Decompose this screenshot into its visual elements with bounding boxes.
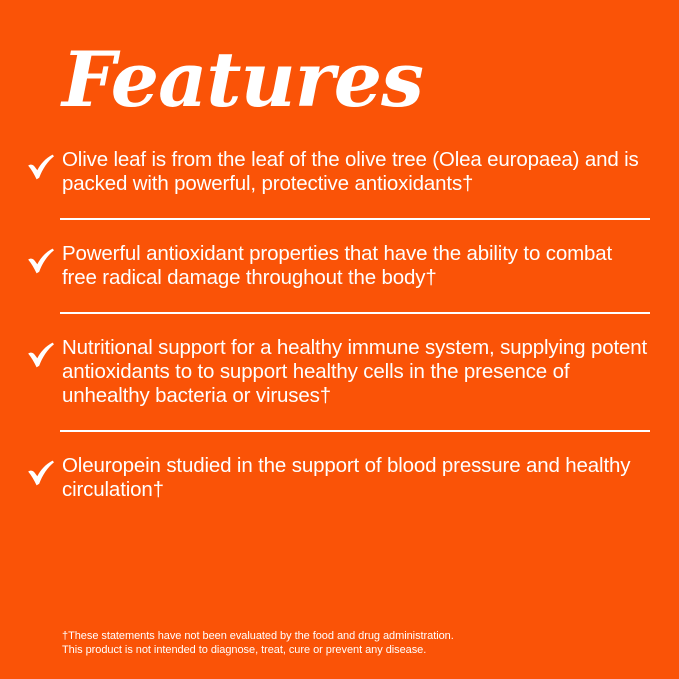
feature-item: Olive leaf is from the leaf of the olive… <box>0 148 679 196</box>
feature-item-text: Oleuropein studied in the support of blo… <box>62 454 650 502</box>
features-list: Olive leaf is from the leaf of the olive… <box>0 148 679 502</box>
footnote-disclaimer: †These statements have not been evaluate… <box>62 630 622 657</box>
footnote-line-1: †These statements have not been evaluate… <box>62 630 622 644</box>
footnote-line-2: This product is not intended to diagnose… <box>62 644 622 658</box>
feature-divider <box>60 312 650 314</box>
feature-divider <box>60 430 650 432</box>
feature-item: Oleuropein studied in the support of blo… <box>0 454 679 502</box>
feature-item-text: Nutritional support for a healthy immune… <box>62 336 650 408</box>
feature-item-text: Olive leaf is from the leaf of the olive… <box>62 148 650 196</box>
checkmark-icon <box>27 154 55 180</box>
checkmark-icon <box>27 342 55 368</box>
feature-card: Features Olive leaf is from the leaf of … <box>0 0 679 679</box>
feature-divider <box>60 218 650 220</box>
feature-item-text: Powerful antioxidant properties that hav… <box>62 242 650 290</box>
checkmark-icon <box>27 248 55 274</box>
checkmark-icon <box>27 460 55 486</box>
feature-item: Nutritional support for a healthy immune… <box>0 336 679 408</box>
page-title: Features <box>62 40 423 120</box>
feature-item: Powerful antioxidant properties that hav… <box>0 242 679 290</box>
